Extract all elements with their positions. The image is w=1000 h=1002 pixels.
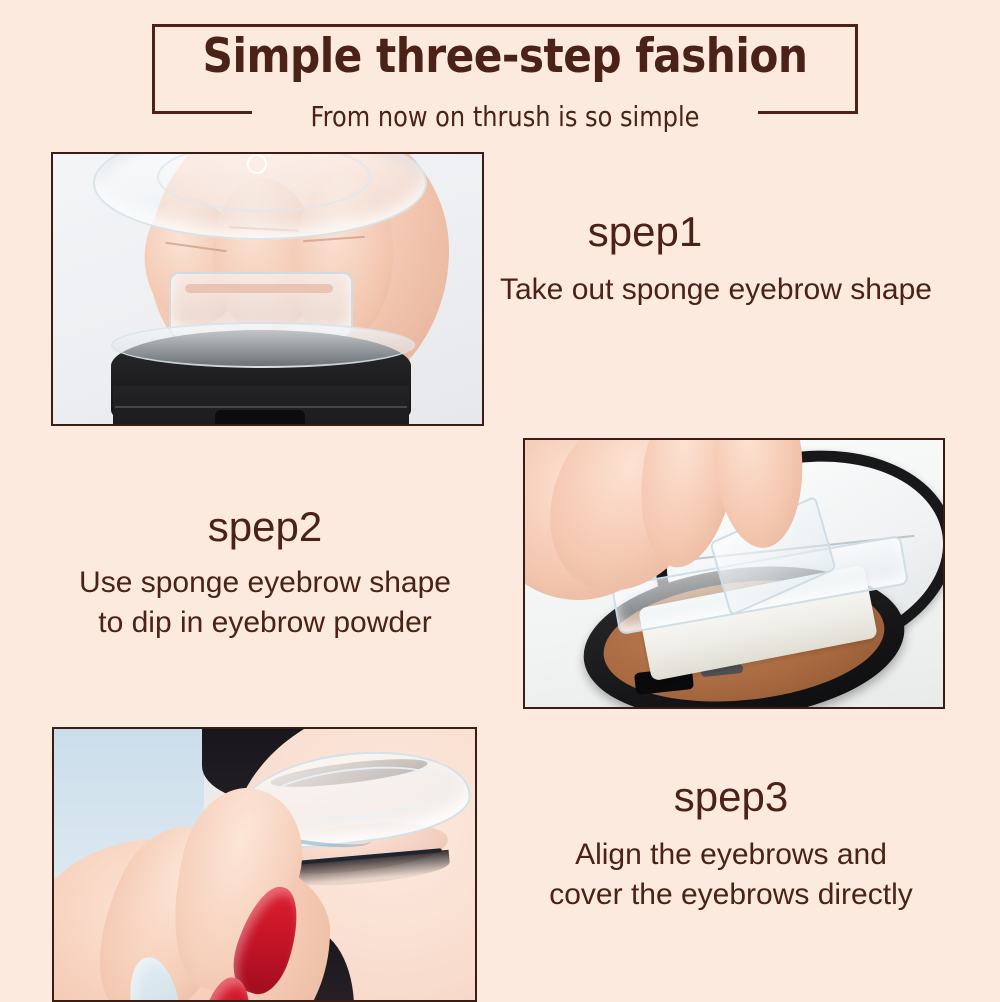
step1-body: Take out sponge eyebrow shape	[500, 270, 960, 310]
photo-step2	[523, 438, 945, 709]
step2-heading: spep2	[20, 505, 510, 549]
sponge-powder-line	[185, 284, 333, 293]
photo-step3	[52, 727, 477, 1002]
page-subtitle: From now on thrush is so simple	[201, 102, 808, 133]
step2-body-line2: to dip in eyebrow powder	[20, 603, 510, 643]
step2-text-block: spep2 Use sponge eyebrow shape to dip in…	[20, 505, 510, 642]
brand-logo-icon	[247, 154, 267, 174]
header-banner: Simple three-step fashion From now on th…	[152, 24, 858, 114]
step1-heading: spep1	[500, 210, 790, 254]
step3-body-line2: cover the eyebrows directly	[486, 875, 976, 915]
step1-text-block: spep1 Take out sponge eyebrow shape	[500, 210, 960, 310]
step3-text-block: spep3 Align the eyebrows and cover the e…	[486, 775, 976, 914]
compact-clear-rim	[111, 322, 415, 368]
compact-seam	[115, 406, 407, 408]
page-title: Simple three-step fashion	[187, 31, 822, 83]
compact-latch	[215, 410, 305, 426]
photo-step1	[51, 152, 484, 426]
step2-body-line1: Use sponge eyebrow shape	[20, 563, 510, 603]
page-subtitle-text: From now on thrush is so simple	[298, 100, 711, 133]
step3-heading: spep3	[486, 775, 976, 819]
step3-body-line1: Align the eyebrows and	[486, 835, 976, 875]
